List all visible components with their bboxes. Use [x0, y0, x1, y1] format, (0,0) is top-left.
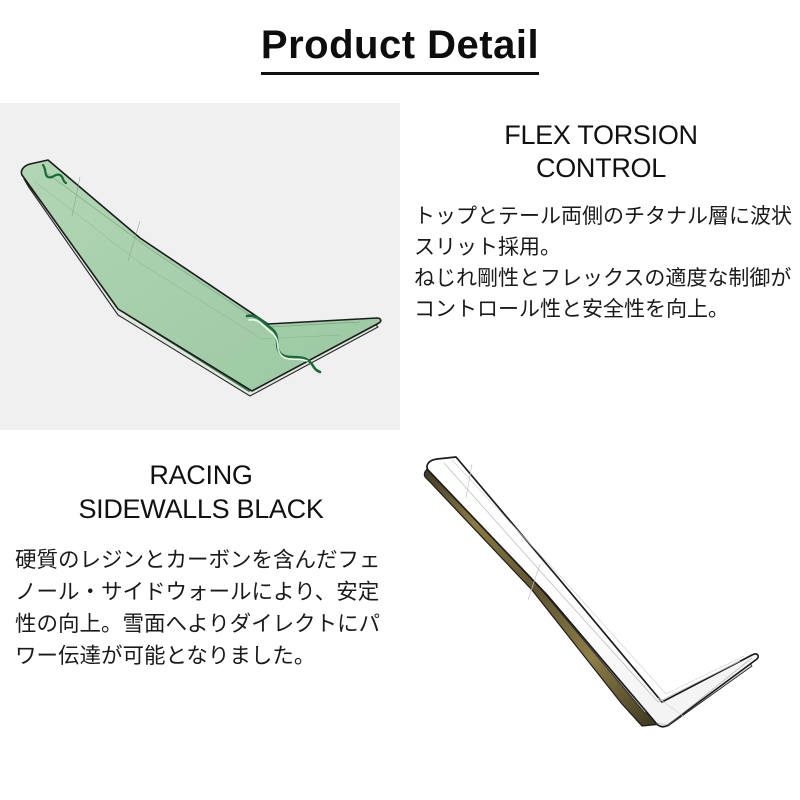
section-racing-sidewalls-black: RACING SIDEWALLS BLACK 硬質のレジンとカーボンを含んだフェ… — [0, 430, 800, 800]
text-flex-torsion-control: FLEX TORSION CONTROL トップとテール両側のチタナル層に波状ス… — [400, 103, 800, 430]
section-body-racing-sidewalls-black: 硬質のレジンとカーボンを含んだフェノール・サイドウォールにより、安定性の向上。雪… — [10, 544, 392, 672]
figure-black-sidewall-ski — [400, 430, 800, 800]
figure-green-titanal-ski-layer — [0, 103, 400, 430]
section-flex-torsion-control: FLEX TORSION CONTROL トップとテール両側のチタナル層に波状ス… — [0, 103, 800, 430]
section-body-flex-torsion-control: トップとテール両側のチタナル層に波状スリット採用。 ねじれ剛性とフレックスの適度… — [408, 201, 794, 325]
page-header: Product Detail — [0, 0, 800, 103]
page-title: Product Detail — [0, 22, 800, 68]
text-racing-sidewalls-black: RACING SIDEWALLS BLACK 硬質のレジンとカーボンを含んだフェ… — [0, 430, 400, 800]
section-heading-racing-sidewalls-black: RACING SIDEWALLS BLACK — [10, 458, 392, 526]
section-heading-flex-torsion-control: FLEX TORSION CONTROL — [408, 119, 794, 185]
title-underline — [261, 72, 539, 75]
